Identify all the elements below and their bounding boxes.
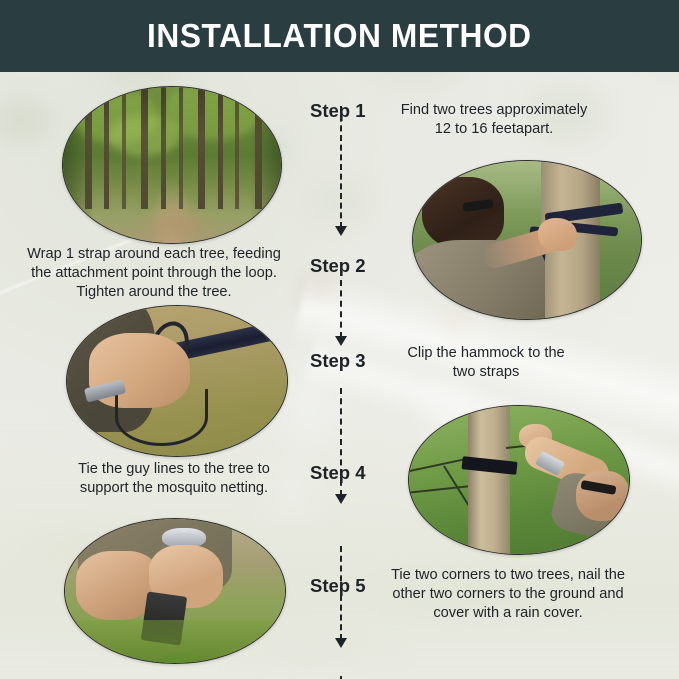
step-caption-2: Wrap 1 strap around each tree, feeding t…: [14, 245, 294, 302]
connector-arrow-4: [335, 638, 347, 648]
step-label-1: Step 1: [310, 100, 366, 122]
header-banner: INSTALLATION METHOD: [0, 0, 679, 72]
step-caption-3: Clip the hammock to the two straps: [386, 344, 586, 382]
guy-line-photo: [409, 406, 629, 554]
step-photo-stake: [64, 518, 286, 664]
step-caption-4: Tie the guy lines to the tree to support…: [52, 460, 296, 498]
step-photo-carabiner: [66, 305, 288, 457]
content-layer: Step 1 Find two trees approximately 12 t…: [0, 0, 679, 679]
connector-dash-2: [340, 280, 342, 338]
connector-arrow-3: [335, 494, 347, 504]
forest-photo: [63, 87, 281, 243]
carabiner-photo: [67, 306, 287, 456]
step-caption-1: Find two trees approximately 12 to 16 fe…: [384, 101, 604, 139]
step-caption-5: Tie two corners to two trees, nail the o…: [382, 566, 634, 623]
infographic-page: INSTALLATION METHOD Step 1 Find two tree…: [0, 0, 679, 679]
step-label-2: Step 2: [310, 255, 366, 277]
step-label-3: Step 3: [310, 350, 366, 372]
step-label-5: Step 5: [310, 575, 366, 597]
connector-arrow-2: [335, 336, 347, 346]
page-title: INSTALLATION METHOD: [147, 17, 532, 55]
step-label-4: Step 4: [310, 462, 366, 484]
stake-photo: [65, 519, 285, 663]
connector-arrow-1: [335, 226, 347, 236]
connector-dash-1: [340, 106, 342, 228]
step-photo-guy-lines: [408, 405, 630, 555]
step-photo-forest: [62, 86, 282, 244]
strap-wrap-photo: [413, 161, 641, 319]
step-photo-wrap-strap: [412, 160, 642, 320]
